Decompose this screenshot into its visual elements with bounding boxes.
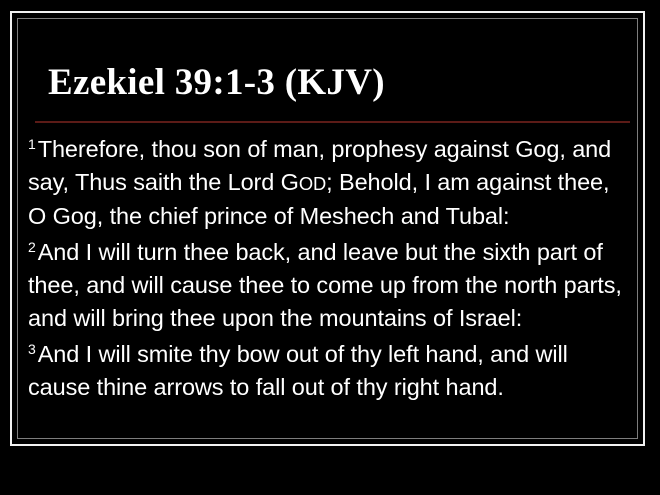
verse-number-2: 2 [28, 239, 36, 255]
verse-3-text: And I will smite thy bow out of thy left… [28, 341, 568, 400]
divine-name-small-caps: OD [299, 173, 326, 194]
scripture-slide: Ezekiel 39:1-3 (KJV) 1Therefore, thou so… [0, 0, 660, 495]
verse-number-1: 1 [28, 136, 36, 152]
divine-name-lead-letter: G [281, 169, 299, 195]
verse-2: 2And I will turn thee back, and leave bu… [28, 236, 632, 335]
verse-1: 1Therefore, thou son of man, prophesy ag… [28, 133, 632, 233]
title-divider-rule [35, 121, 630, 123]
verse-2-text: And I will turn thee back, and leave but… [28, 239, 622, 331]
verse-number-3: 3 [28, 341, 36, 357]
slide-content: Ezekiel 39:1-3 (KJV) 1Therefore, thou so… [28, 26, 632, 432]
slide-title: Ezekiel 39:1-3 (KJV) [48, 61, 385, 104]
verse-3: 3And I will smite thy bow out of thy lef… [28, 338, 632, 404]
verse-list: 1Therefore, thou son of man, prophesy ag… [28, 133, 632, 407]
